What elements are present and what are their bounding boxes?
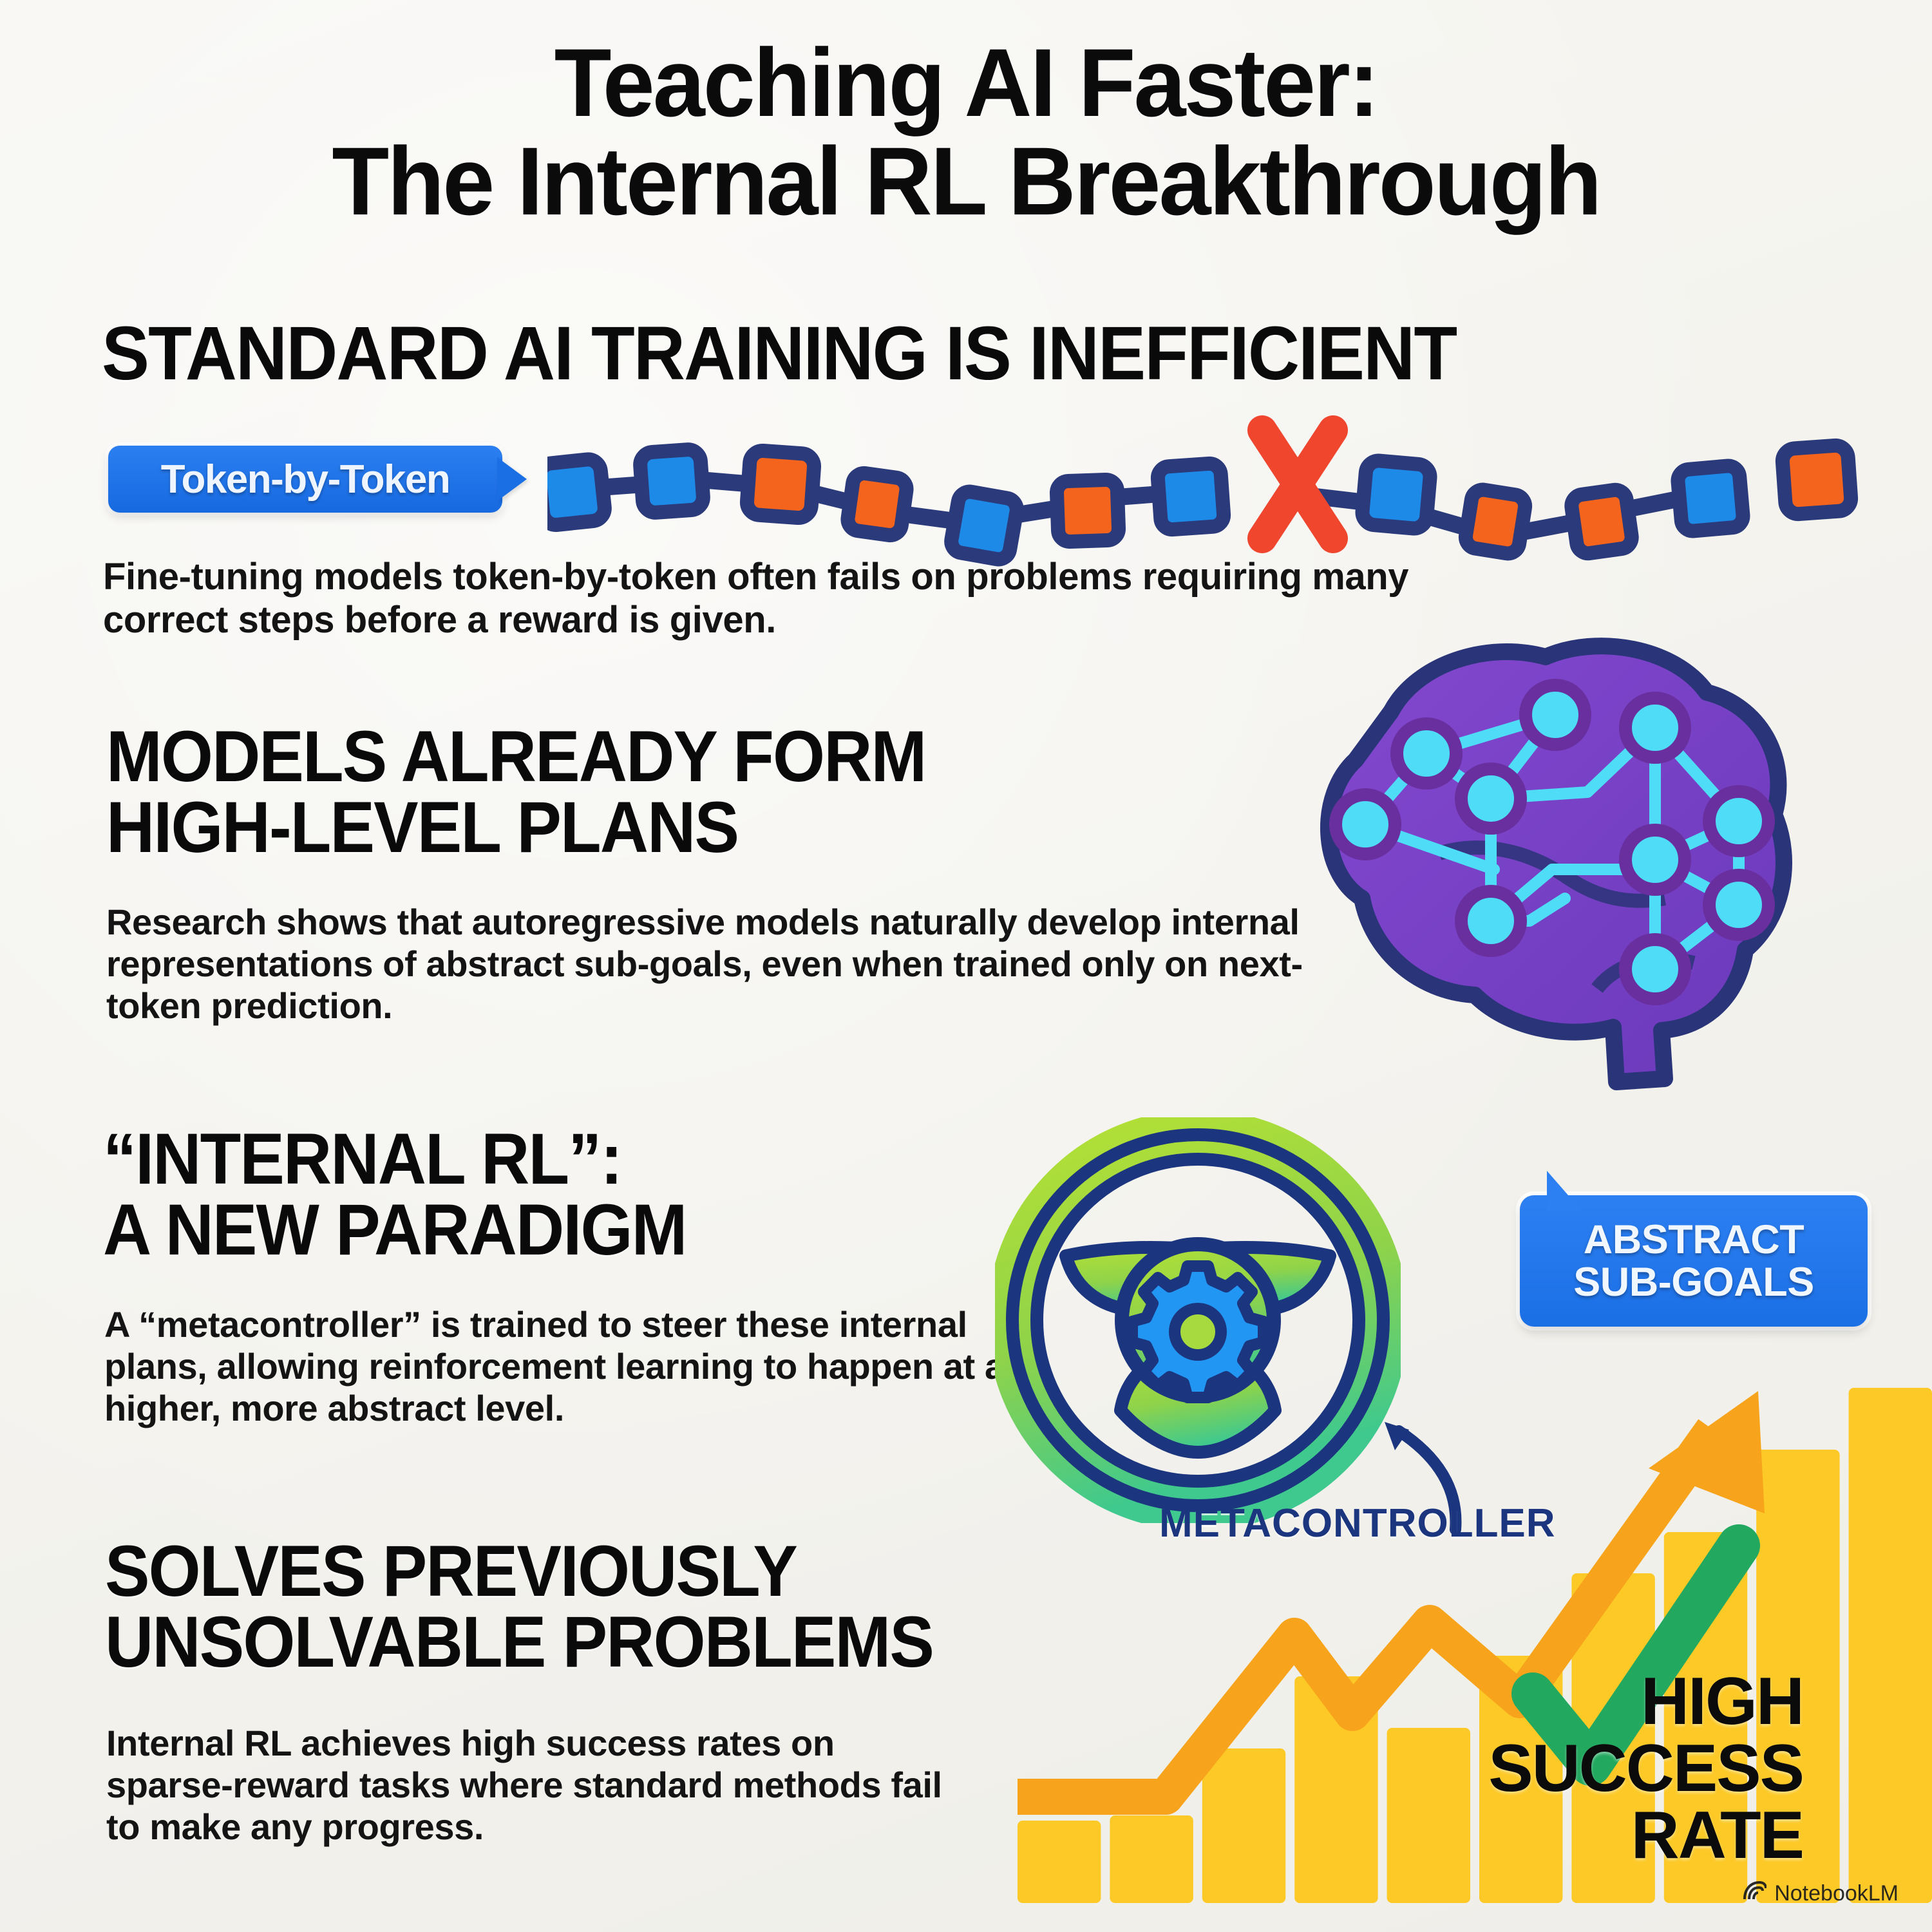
section-3-body: A “metacontroller” is trained to steer t… (104, 1304, 1057, 1430)
section-2-heading-line-2: HIGH-LEVEL PLANS (106, 792, 925, 863)
chart-bar (1849, 1388, 1932, 1903)
section-3-heading-line-2: A NEW PARADIGM (103, 1195, 687, 1265)
hsr-line-2: SUCCESS (1404, 1735, 1803, 1802)
watermark: NotebookLM (1742, 1880, 1899, 1908)
high-success-rate-label: HIGH SUCCESS RATE (1404, 1668, 1803, 1869)
section-4-body: Internal RL achieves high success rates … (106, 1723, 956, 1848)
hsr-line-3: RATE (1404, 1802, 1803, 1869)
watermark-label: NotebookLM (1774, 1881, 1899, 1906)
chart-bar (1018, 1821, 1101, 1903)
abstract-subgoals-callout: ABSTRACT SUB-GOALS (1520, 1179, 1868, 1340)
section-3-heading: “INTERNAL RL”: A NEW PARADIGM (103, 1124, 687, 1265)
title-line-1: Teaching AI Faster: (29, 33, 1903, 132)
section-2-heading: MODELS ALREADY FORM HIGH-LEVEL PLANS (106, 721, 925, 863)
section-2-heading-line-1: MODELS ALREADY FORM (106, 721, 925, 792)
section-1-heading: STANDARD AI TRAINING IS INEFFICIENT (102, 317, 1456, 392)
token-by-token-badge: Token-by-Token (108, 446, 527, 513)
chart-bar (1110, 1815, 1193, 1903)
subgoals-line-2: SUB-GOALS (1573, 1261, 1814, 1303)
chart-bar (1202, 1748, 1285, 1903)
hsr-line-1: HIGH (1404, 1668, 1803, 1735)
section-4-heading-line-2: UNSOLVABLE PROBLEMS (105, 1607, 933, 1678)
section-1-body: Fine-tuning models token-by-token often … (103, 555, 1423, 642)
section-4-heading-line-1: SOLVES PREVIOUSLY (105, 1536, 933, 1607)
badge-label: Token-by-Token (108, 446, 502, 513)
subgoals-line-1: ABSTRACT (1584, 1218, 1804, 1261)
section-3-heading-line-1: “INTERNAL RL”: (103, 1124, 687, 1195)
section-2-body: Research shows that autoregressive model… (106, 902, 1317, 1027)
page-title: Teaching AI Faster: The Internal RL Brea… (0, 33, 1932, 231)
section-4-heading: SOLVES PREVIOUSLY UNSOLVABLE PROBLEMS (105, 1536, 933, 1678)
red-x-icon (1262, 430, 1333, 538)
brain-network-icon (1294, 628, 1803, 1117)
subgoals-text: ABSTRACT SUB-GOALS (1520, 1195, 1868, 1327)
token-chain-icon (547, 412, 1919, 567)
notebooklm-spiral-icon (1742, 1880, 1766, 1908)
title-line-2: The Internal RL Breakthrough (29, 132, 1903, 231)
